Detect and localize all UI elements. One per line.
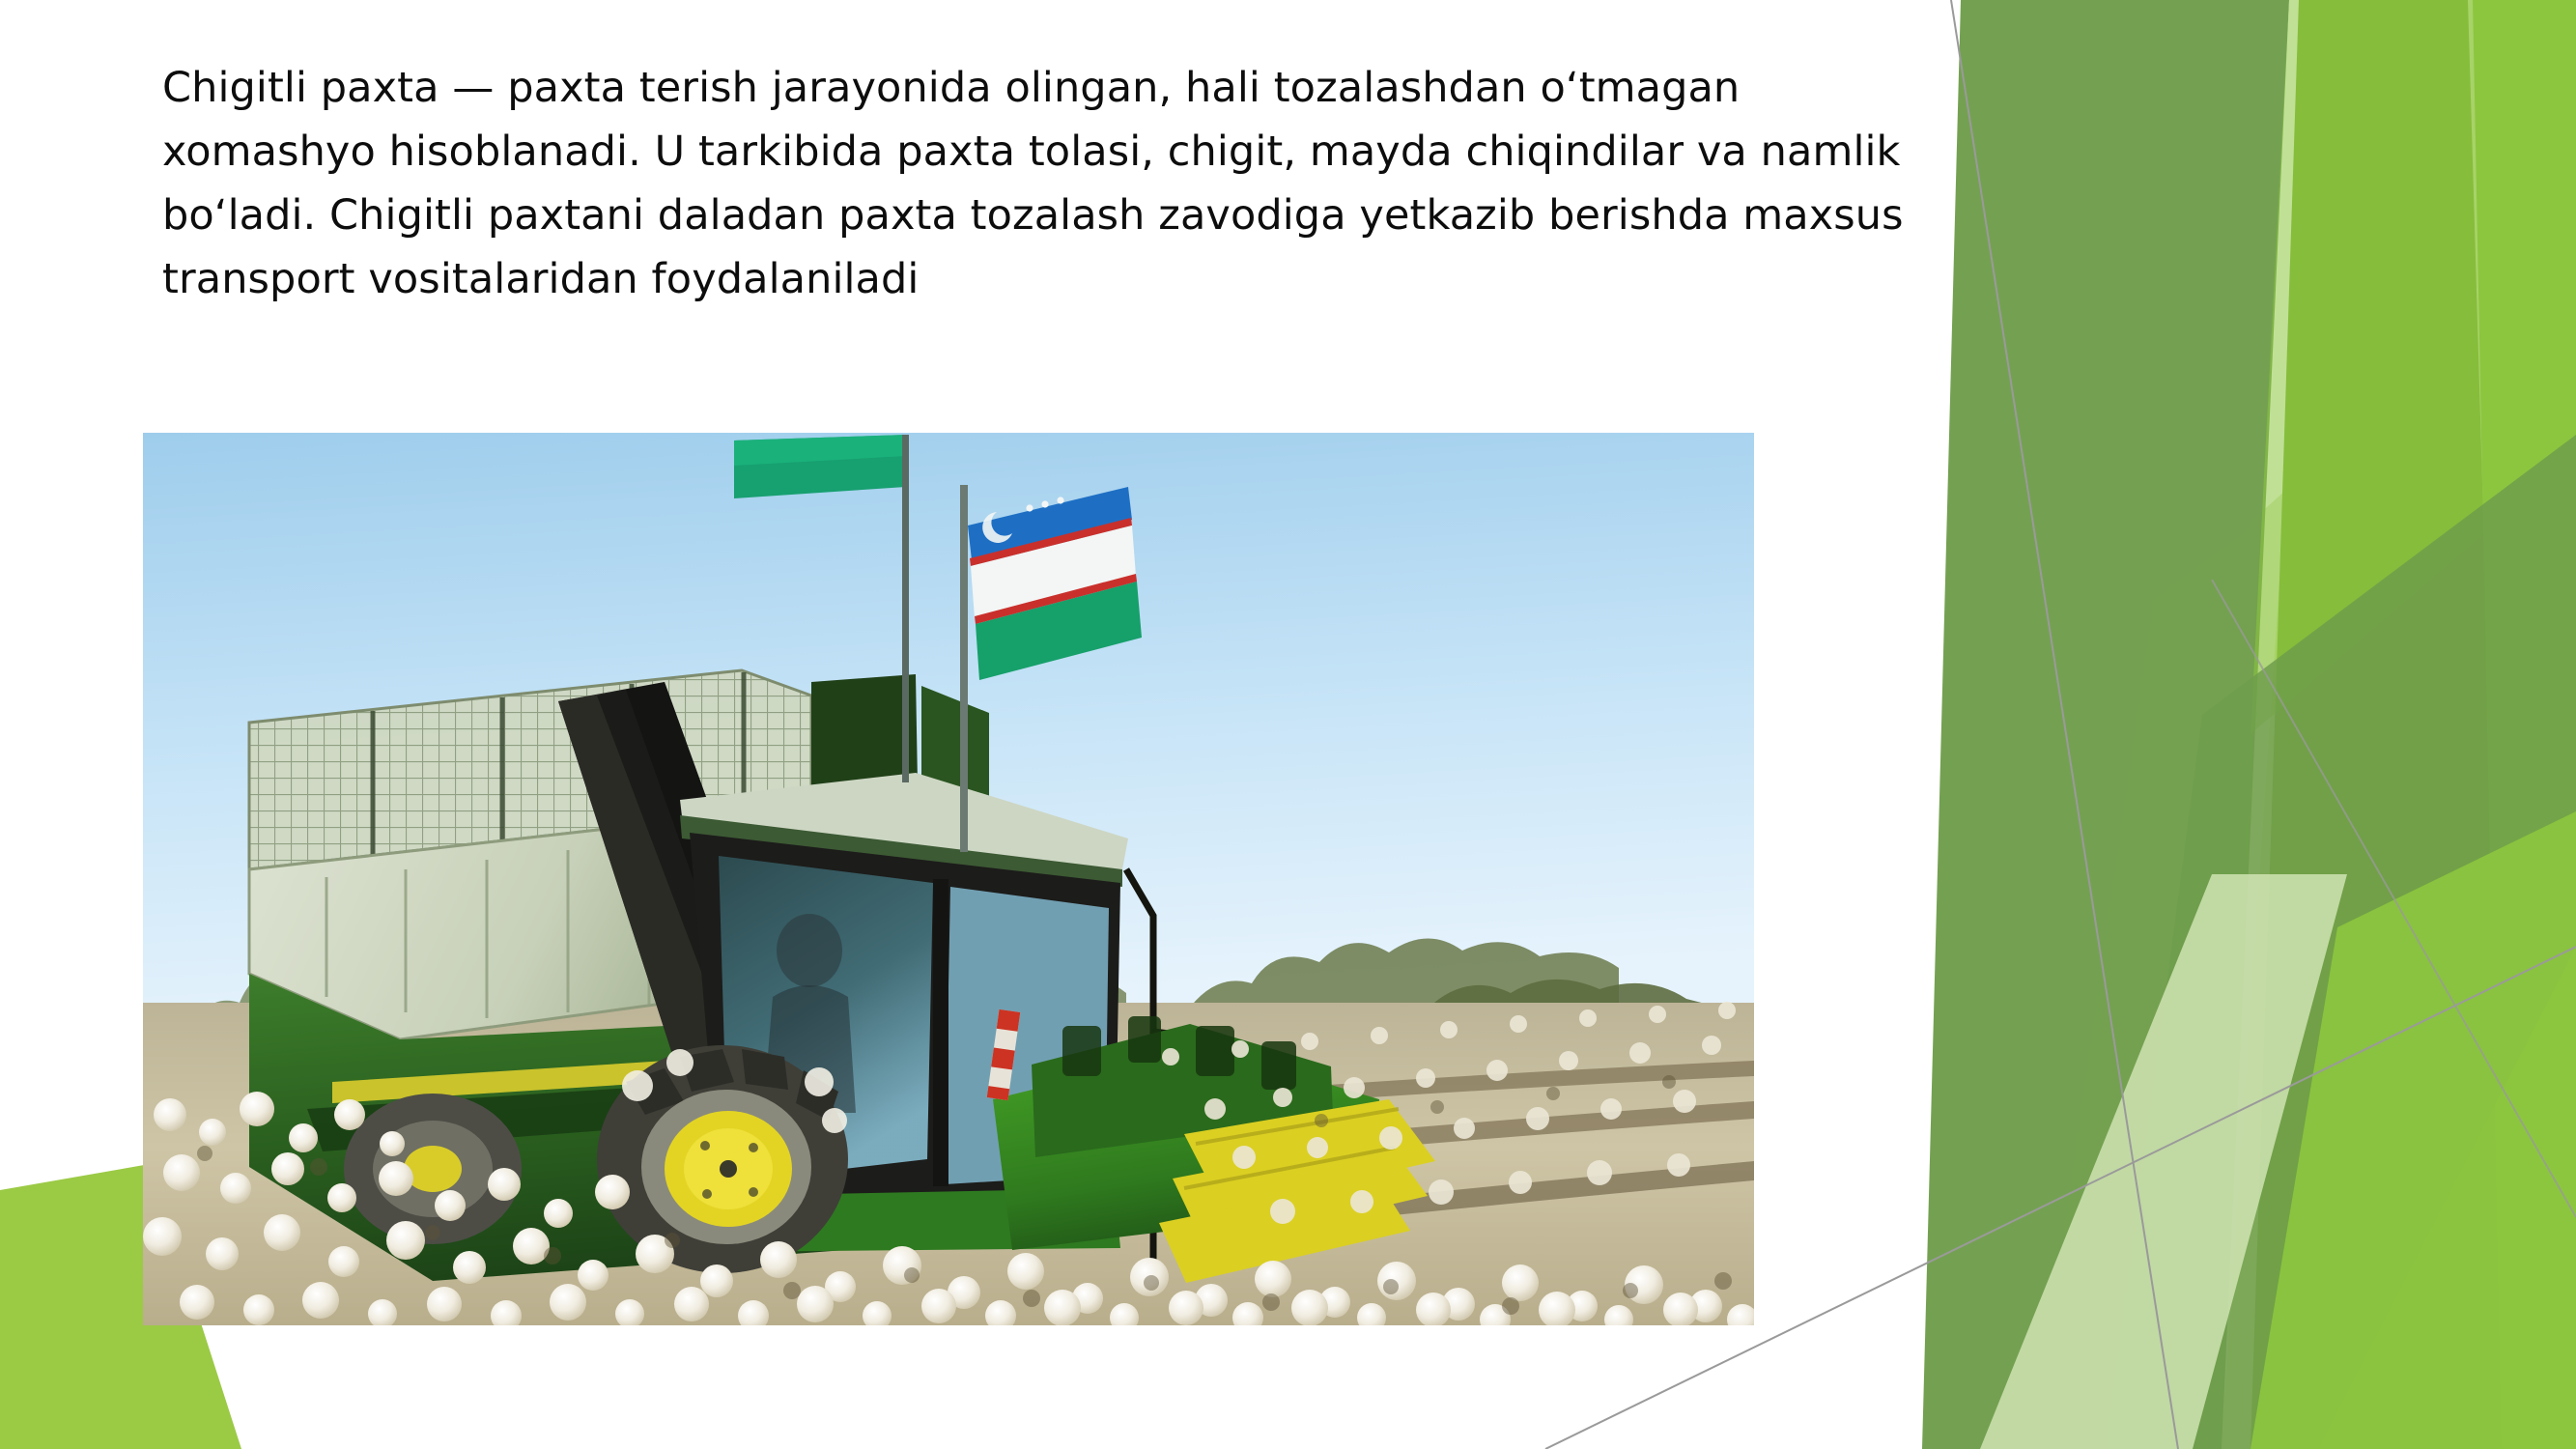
flagpole xyxy=(960,485,968,852)
cotton-harvester-illustration: 9970 xyxy=(143,433,1754,1325)
facet-mid-green-band xyxy=(2250,0,2511,1449)
facet-palest-right-lower xyxy=(2033,290,2576,1449)
hairline-diagonal-top xyxy=(1951,0,2178,1449)
harvester-rear-wheel xyxy=(344,1094,522,1244)
facet-dark-cross-lower xyxy=(2106,435,2576,1449)
facet-pale-green-tall xyxy=(2222,0,2576,1449)
body-paragraph: Chigitli paxta — paxta terish jarayonida… xyxy=(162,56,1930,311)
slide-canvas: Chigitli paxta — paxta terish jarayonida… xyxy=(0,0,2576,1449)
facet-bright-lower-right xyxy=(2250,811,2576,1449)
hairline-diagonal-right xyxy=(2212,580,2576,1217)
facet-dark-olive-band xyxy=(1922,0,2289,1449)
cotton-harvester-photo: 9970 xyxy=(143,433,1754,1325)
facet-pale-sliver-bottom xyxy=(1980,874,2347,1449)
facet-light-overlay-upper xyxy=(2250,0,2576,734)
facet-bright-green-edge xyxy=(2473,0,2576,1449)
facet-paler-mid xyxy=(2115,232,2576,1449)
harvester-front-wheel xyxy=(597,1045,848,1273)
